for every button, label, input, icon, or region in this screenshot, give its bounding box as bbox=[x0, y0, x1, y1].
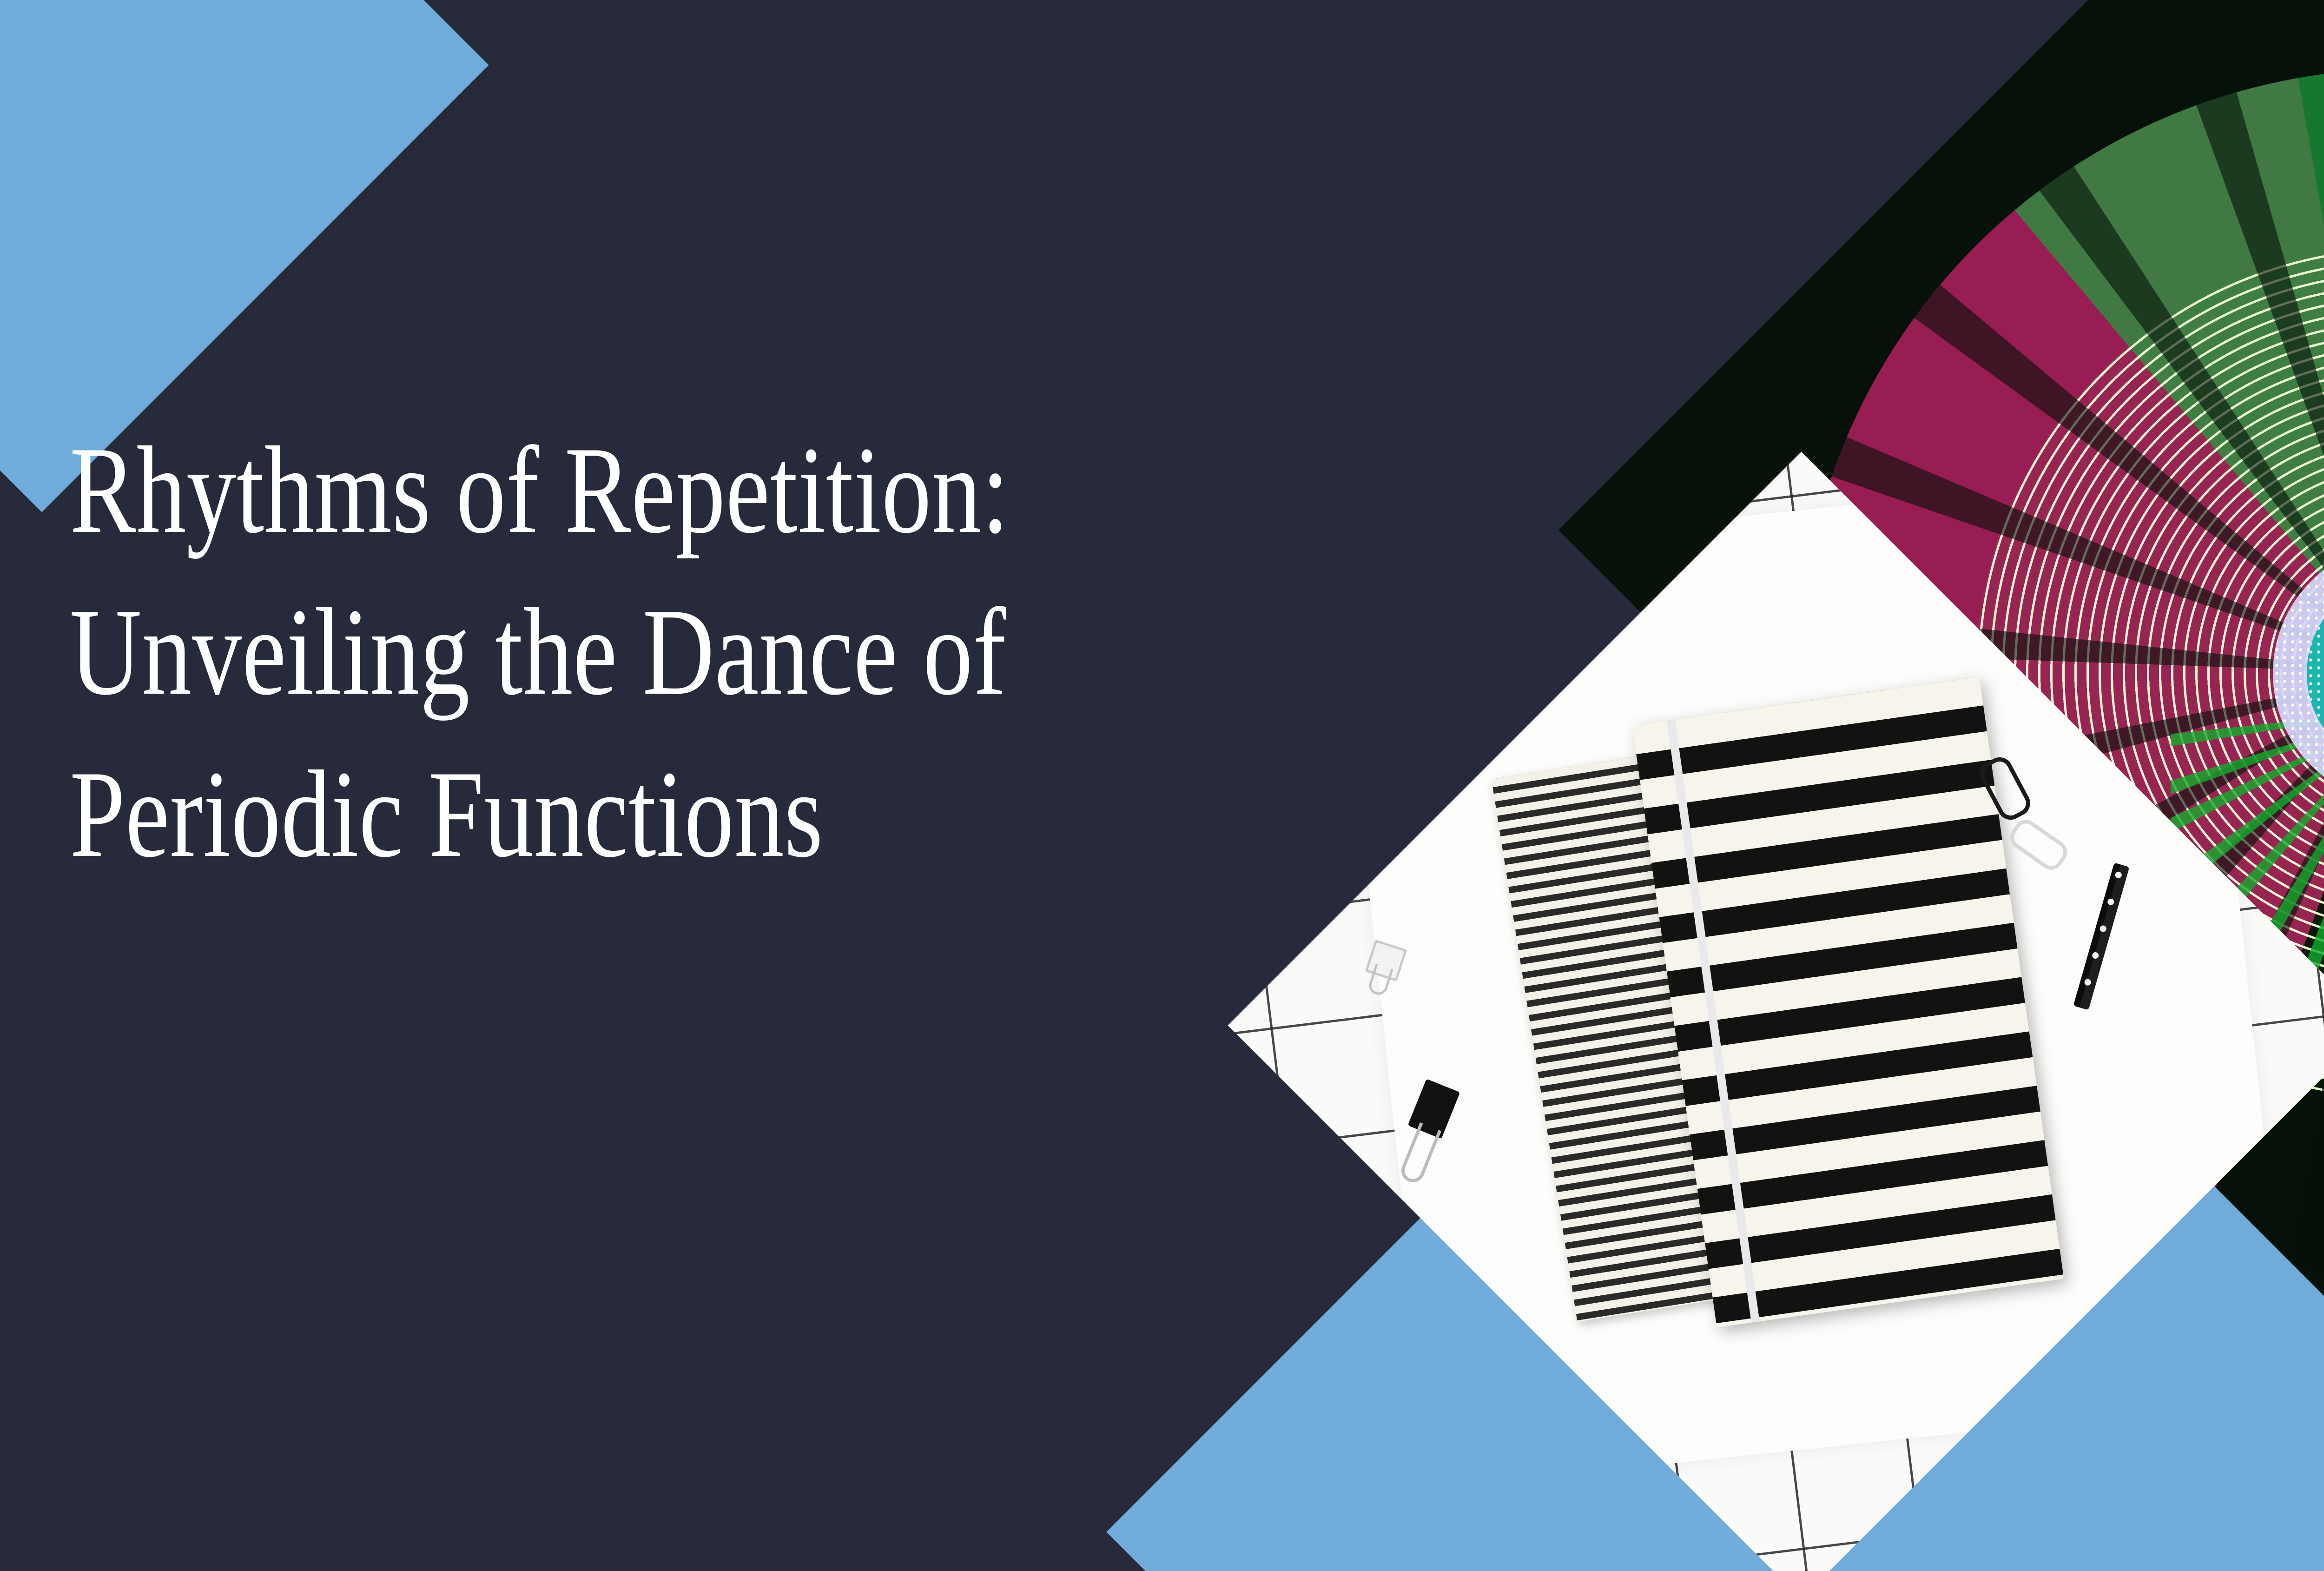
led-hub-core: $ bbox=[2307, 577, 2324, 769]
led-core-dot-matrix bbox=[2307, 577, 2324, 769]
stationery-photo-inner bbox=[1396, 620, 2207, 1431]
title-block: Rhythms of Repetition: Unveiling the Dan… bbox=[70, 409, 1487, 895]
presentation-slide: $ Rh bbox=[0, 0, 2324, 1571]
slide-title: Rhythms of Repetition: Unveiling the Dan… bbox=[70, 409, 1204, 895]
